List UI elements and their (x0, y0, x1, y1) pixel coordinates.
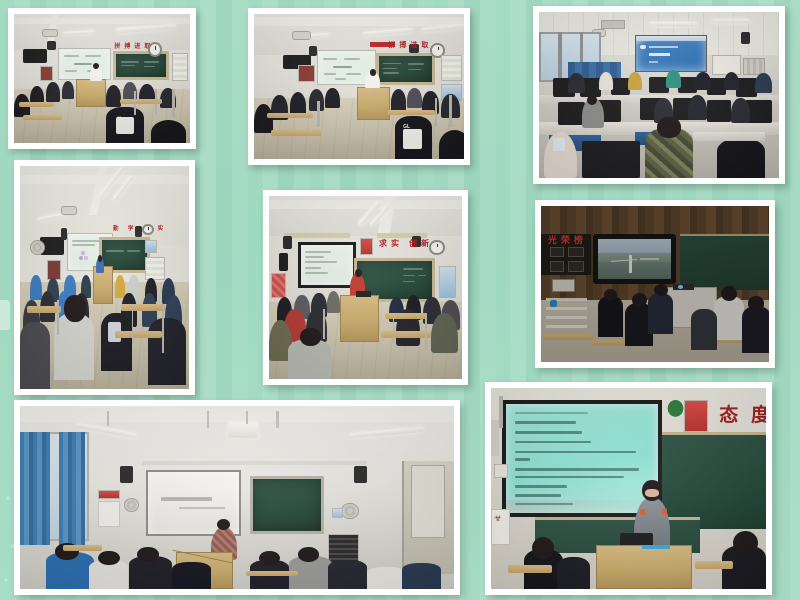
collage-photo-top-center[interactable]: 拼搏进取 GL (248, 8, 470, 165)
wall-slogan-5: 求实 创新 (379, 238, 433, 249)
wall-slogan-4: 勤 学 务 实 (113, 224, 167, 232)
photo-image-classroom-lecture-1: 拼搏进取 GL (14, 14, 190, 143)
collage-photo-top-right[interactable] (533, 6, 785, 184)
collage-photo-bottom-right[interactable]: 态 度 ☣ (485, 382, 772, 595)
projected-slide-cyan (502, 400, 662, 517)
photo-image-student-presentation: 态 度 ☣ (491, 388, 766, 589)
photo-collage: 拼搏进取 GL (0, 0, 800, 600)
collage-photo-middle-right[interactable]: 光荣榜 (535, 200, 775, 368)
collage-photo-middle-left[interactable]: 勤 学 务 实 (14, 160, 195, 395)
collage-photo-bottom-left[interactable] (14, 400, 460, 595)
photo-image-video-viewing-room: 光荣榜 (541, 206, 769, 362)
photo-image-classroom-rear-view: 勤 学 务 实 (20, 166, 189, 389)
wall-slogan-8: 态 度 (719, 400, 766, 427)
photo-image-wide-classroom (20, 406, 454, 589)
wall-slogan-6: 光荣榜 (548, 233, 587, 246)
photo-image-teacher-red-jacket: 求实 创新 (269, 196, 462, 379)
photo-image-computer-lab (539, 12, 779, 178)
photo-image-classroom-lecture-2: 拼搏进取 GL (254, 14, 464, 159)
decorative-notch (0, 300, 10, 330)
wall-slogan-2: 拼搏进取 (388, 40, 432, 50)
collage-photo-center[interactable]: 求实 创新 (263, 190, 468, 385)
collage-photo-top-left[interactable]: 拼搏进取 GL (8, 8, 196, 149)
